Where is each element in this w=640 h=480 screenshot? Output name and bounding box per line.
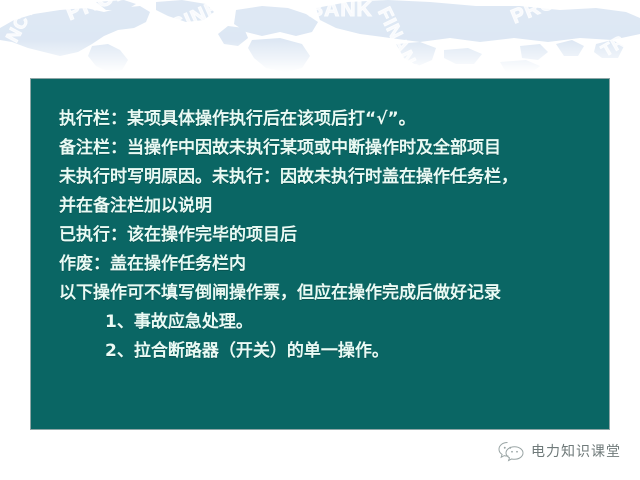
- brand-watermark: 电力知识课堂: [498, 440, 621, 462]
- panel-line: 备注栏：当操作中因故未执行某项或中断操作时及全部项目: [59, 134, 595, 163]
- panel-line: 2、拉合断路器（开关）的单一操作。: [59, 337, 595, 366]
- brand-label: 电力知识课堂: [531, 441, 621, 461]
- panel-line: 以下操作可不填写倒闸操作票，但应在操作完成后做好记录: [59, 279, 595, 308]
- background-world-map: PROFITNCYBUSINESSBANKFINANCYPRODUCTTR: [0, 0, 640, 72]
- slide-canvas: PROFITNCYBUSINESSBANKFINANCYPRODUCTTR 执行…: [0, 0, 640, 480]
- panel-line: 已执行：该在操作完毕的项目后: [59, 221, 595, 250]
- panel-line: 并在备注栏加以说明: [59, 192, 595, 221]
- panel-line: 1、事故应急处理。: [59, 308, 595, 337]
- watermark-word: BANK: [308, 0, 373, 22]
- panel-line: 执行栏：某项具体操作执行后在该项后打“√”。: [59, 105, 595, 134]
- panel-line: 作废：盖在操作任务栏内: [59, 250, 595, 279]
- panel-text-block: 执行栏：某项具体操作执行后在该项后打“√”。备注栏：当操作中因故未执行某项或中断…: [59, 105, 595, 366]
- wechat-icon: [498, 440, 524, 462]
- panel-line: 未执行时写明原因。未执行：因故未执行时盖在操作任务栏，: [59, 163, 595, 192]
- content-panel: 执行栏：某项具体操作执行后在该项后打“√”。备注栏：当操作中因故未执行某项或中断…: [30, 78, 610, 430]
